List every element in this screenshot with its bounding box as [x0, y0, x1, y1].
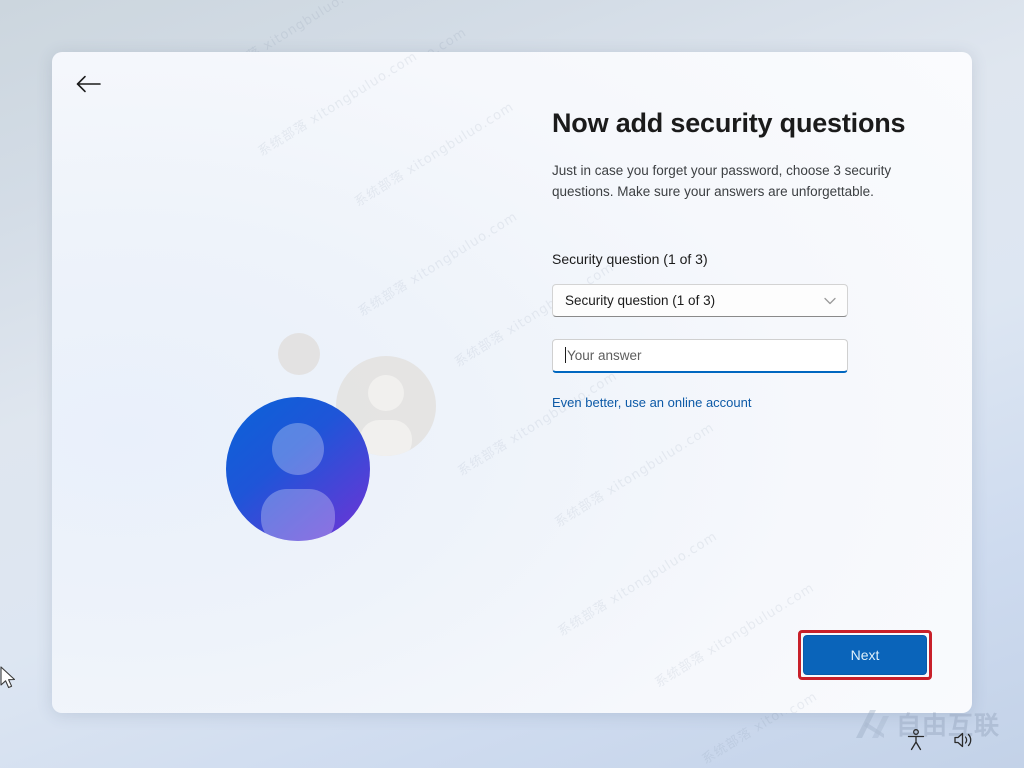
dropdown-selected-value: Security question (1 of 3) [565, 293, 715, 308]
avatar-primary [226, 397, 370, 545]
page-subtitle: Just in case you forget your password, c… [552, 161, 902, 203]
next-button[interactable]: Next [803, 635, 927, 675]
user-account-avatar-illustration [172, 262, 502, 592]
security-question-label: Security question (1 of 3) [552, 251, 912, 267]
back-button[interactable] [67, 62, 111, 106]
security-question-dropdown[interactable]: Security question (1 of 3) [552, 284, 848, 317]
windows-oobe-screen: 系统部落 xitongbuluo.com 系统部落 xitongbuluo.co… [0, 0, 1024, 768]
back-arrow-icon [76, 75, 102, 93]
setup-card: 系统部落 xitongbuluo.com 系统部落 xitongbuluo.co… [52, 52, 972, 713]
text-caret [565, 347, 566, 363]
accessibility-icon[interactable] [906, 729, 926, 756]
chevron-down-icon [823, 294, 837, 311]
system-tray [906, 729, 976, 756]
speaker-volume-icon[interactable] [952, 730, 976, 755]
answer-input[interactable]: Your answer [552, 339, 848, 373]
decorative-circle-small [278, 333, 320, 375]
online-account-link[interactable]: Even better, use an online account [552, 395, 751, 410]
answer-input-placeholder: Your answer [567, 348, 642, 363]
setup-content: Now add security questions Just in case … [552, 107, 912, 412]
page-title: Now add security questions [552, 107, 912, 141]
mouse-cursor [0, 666, 18, 692]
